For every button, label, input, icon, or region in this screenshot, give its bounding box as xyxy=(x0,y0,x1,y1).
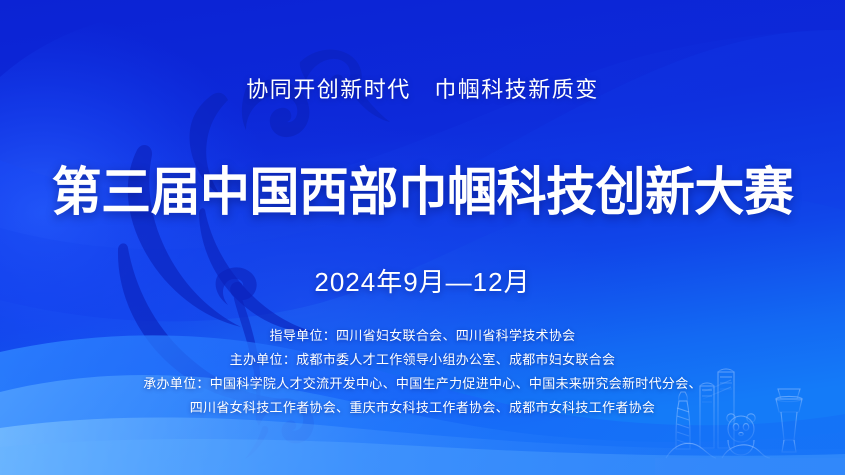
poster-subtitle: 协同开创新时代 巾帼科技新质变 xyxy=(0,72,845,104)
organizer-line-undertaker-1: 承办单位：中国科学院人才交流开发中心、中国生产力促进中心、中国未来研究会新时代分… xyxy=(0,372,845,396)
page-title: 第三届中国西部巾帼科技创新大赛 xyxy=(17,150,828,225)
poster-canvas: 协同开创新时代 巾帼科技新质变 第三届中国西部巾帼科技创新大赛 2024年9月—… xyxy=(0,0,845,475)
poster-text-content: 协同开创新时代 巾帼科技新质变 第三届中国西部巾帼科技创新大赛 2024年9月—… xyxy=(0,0,845,475)
organizer-list: 指导单位：四川省妇女联合会、四川省科学技术协会 主办单位：成都市委人才工作领导小… xyxy=(0,324,845,420)
organizer-line-host: 主办单位：成都市委人才工作领导小组办公室、成都市妇女联合会 xyxy=(0,348,845,372)
event-date: 2024年9月—12月 xyxy=(0,262,845,299)
organizer-line-guidance: 指导单位：四川省妇女联合会、四川省科学技术协会 xyxy=(0,324,845,348)
organizer-line-undertaker-2: 四川省女科技工作者协会、重庆市女科技工作者协会、成都市女科技工作者协会 xyxy=(0,396,845,420)
